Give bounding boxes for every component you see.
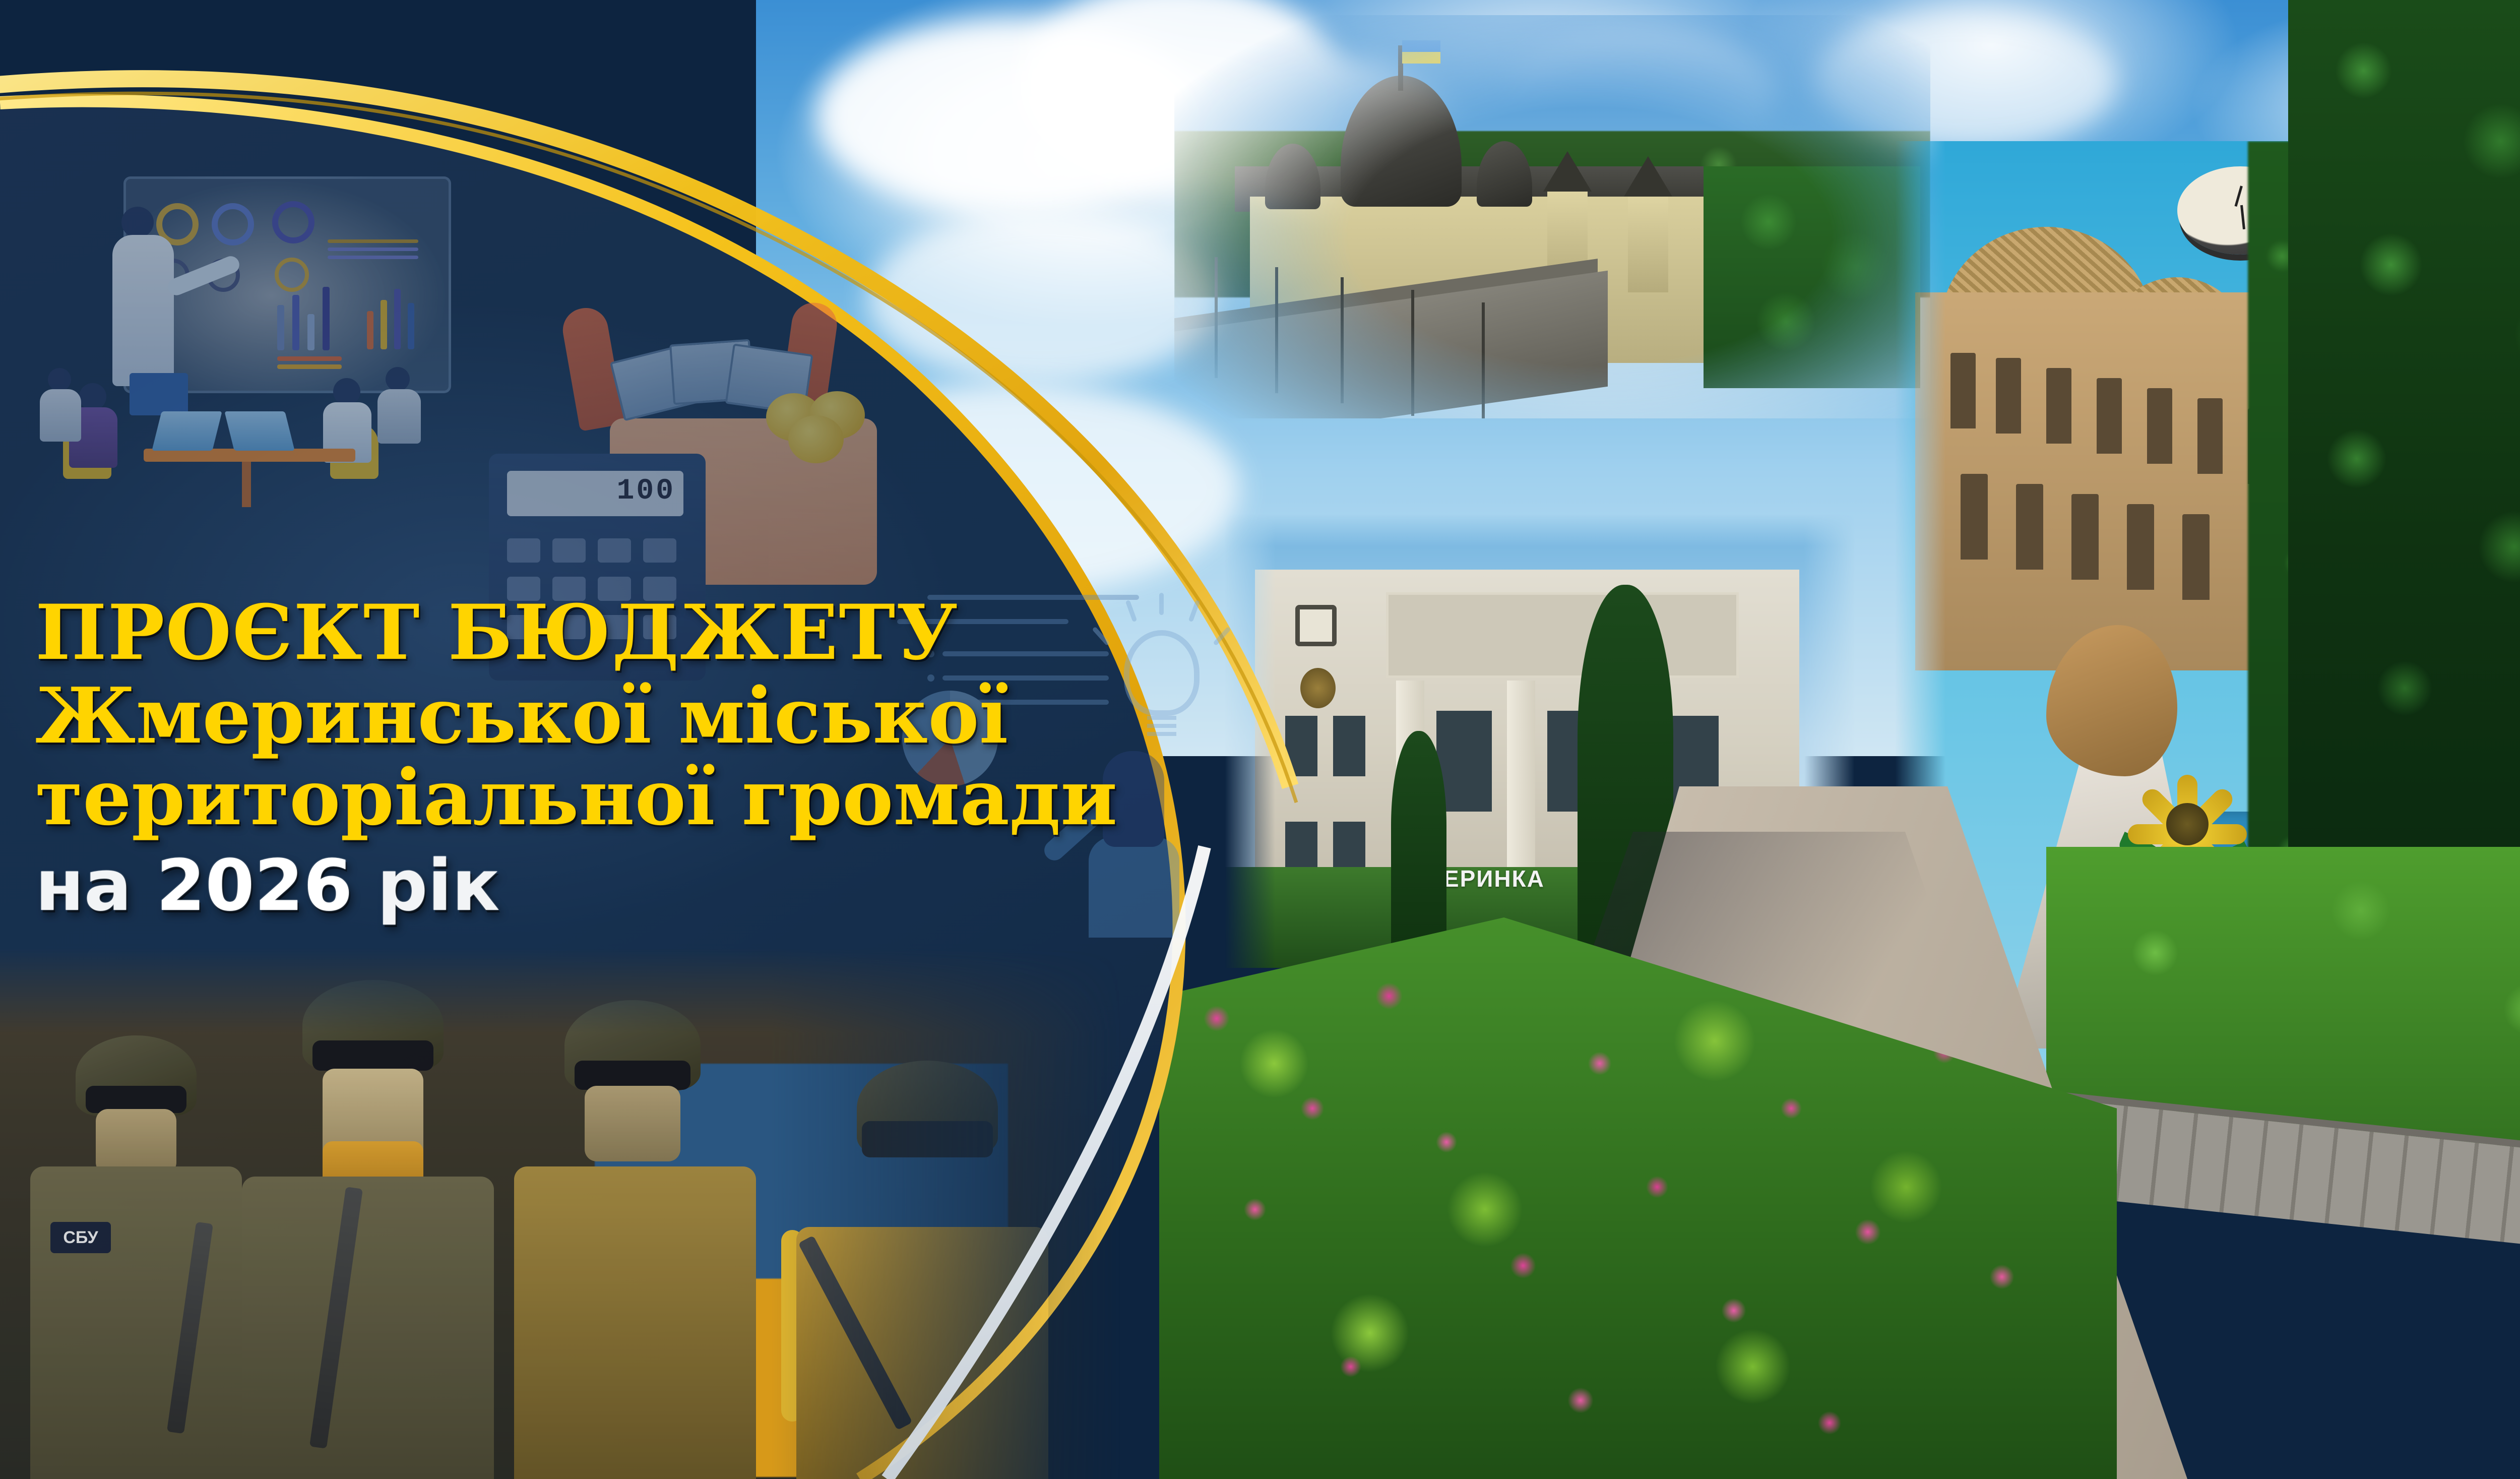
calculator-display: 100 bbox=[507, 471, 683, 516]
coat-of-arms-icon bbox=[1300, 668, 1336, 708]
building-clock-icon bbox=[1295, 605, 1337, 646]
title-line-4: на 2026 рік bbox=[35, 845, 1270, 927]
title-block: ПРОЄКТ БЮДЖЕТУ Жмеринської міської терит… bbox=[35, 595, 1270, 927]
title-line-3: територіальної громади bbox=[35, 759, 1270, 836]
ukrainian-soldiers-photo: СБУ bbox=[0, 948, 1169, 1479]
business-presentation-illustration bbox=[28, 166, 471, 519]
year-prefix: на bbox=[35, 845, 132, 927]
park-trees-photo bbox=[2288, 0, 2520, 882]
ukrainian-flag-icon bbox=[1402, 40, 1440, 64]
zhmerynka-railway-station-photo bbox=[1174, 15, 1930, 418]
budget-banner: ЖМЕРИНКА bbox=[0, 0, 2520, 1479]
park-walkway-flowers-photo bbox=[1159, 786, 2520, 1479]
coin-icon bbox=[788, 415, 844, 463]
budget-year: 2026 bbox=[156, 845, 353, 927]
title-line-1: ПРОЄКТ БЮДЖЕТУ bbox=[35, 595, 1270, 670]
sbu-shoulder-patch: СБУ bbox=[50, 1222, 111, 1253]
title-line-2: Жмеринської міської bbox=[35, 677, 1270, 754]
year-suffix: рік bbox=[377, 845, 499, 927]
